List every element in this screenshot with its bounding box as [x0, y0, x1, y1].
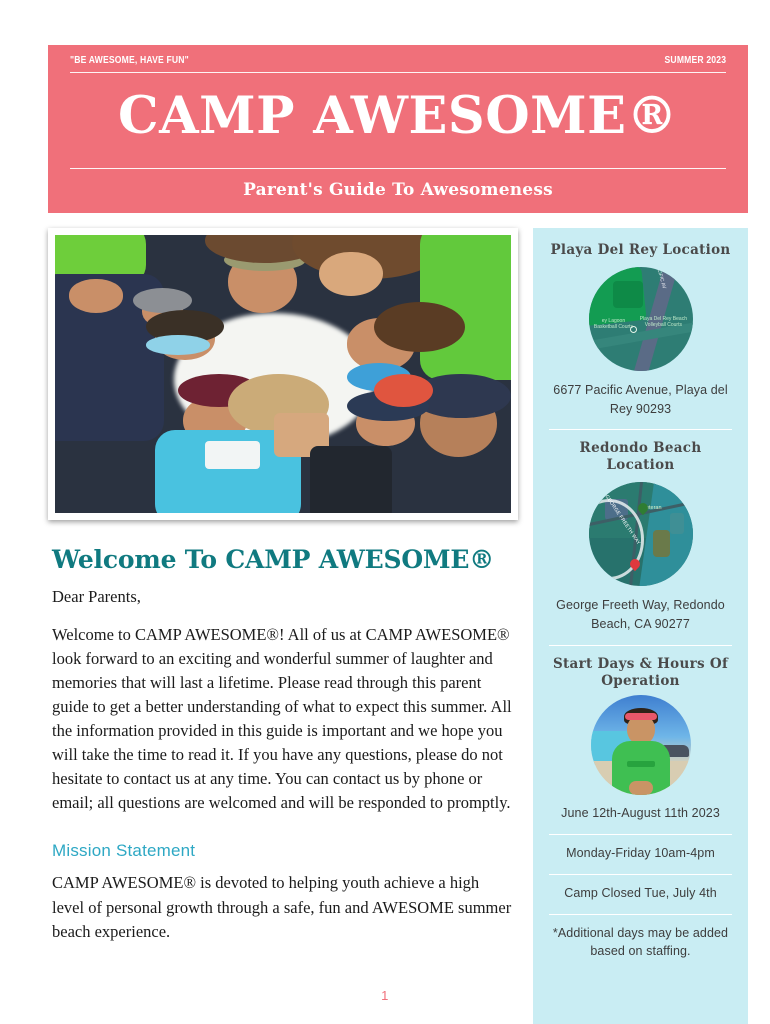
- playa-del-rey-map[interactable]: PACIFIC AV ey Lagoon Basketball Courts P…: [589, 267, 693, 371]
- hero-photo-frame: [48, 228, 518, 520]
- photo-blob: [374, 302, 465, 352]
- photo-blob: [205, 441, 260, 469]
- main-content-column: Welcome To CAMP AWESOME® Dear Parents, W…: [48, 228, 518, 944]
- photo-blob: [146, 335, 210, 354]
- publication-subtitle: Parent's Guide To Awesomeness: [68, 169, 728, 203]
- mission-statement-heading: Mission Statement: [52, 841, 518, 861]
- map-poi-label-2: Playa Del Rey Beach Volleyball Courts: [636, 317, 690, 329]
- redondo-beach-map[interactable]: GEORGE FREETH WAY Veteran: [589, 482, 693, 586]
- sidebar-heading-redondo-beach: Redondo Beach Location: [547, 440, 734, 474]
- page-title: Welcome To CAMP AWESOME®: [52, 546, 518, 575]
- sidebar-divider: [549, 429, 732, 430]
- mission-statement-paragraph: CAMP AWESOME® is devoted to helping yout…: [52, 871, 514, 943]
- map-poi-label-1: ey Lagoon Basketball Courts: [593, 319, 635, 331]
- map-ballfield: [613, 281, 642, 308]
- newsletter-page: "BE AWESOME, HAVE FUN" SUMMER 2023 CAMP …: [0, 0, 770, 1024]
- playa-del-rey-address: 6677 Pacific Avenue, Playa del Rey 90293: [549, 381, 732, 419]
- info-sidebar: Playa Del Rey Location PACIFIC AV ey Lag…: [533, 228, 748, 1024]
- masthead-banner: "BE AWESOME, HAVE FUN" SUMMER 2023 CAMP …: [48, 45, 748, 213]
- campers-circle-photo: [55, 235, 511, 513]
- photo-goggles: [625, 713, 657, 720]
- hours-item: Monday-Friday 10am-4pm: [547, 835, 734, 863]
- sidebar-heading-hours: Start Days & Hours Of Operation: [547, 656, 734, 690]
- photo-blob: [69, 279, 124, 312]
- masthead-meta-row: "BE AWESOME, HAVE FUN" SUMMER 2023: [68, 54, 728, 66]
- hours-note: *Additional days may be added based on s…: [547, 915, 734, 962]
- photo-hands: [629, 781, 653, 795]
- sidebar-divider: [549, 645, 732, 646]
- redondo-beach-address: George Freeth Way, Redondo Beach, CA 902…: [549, 596, 732, 634]
- map-block-2: [653, 530, 670, 557]
- sidebar-heading-playa-del-rey: Playa Del Rey Location: [547, 242, 734, 259]
- hours-item: Camp Closed Tue, July 4th: [547, 875, 734, 903]
- tagline: "BE AWESOME, HAVE FUN": [70, 54, 189, 66]
- photo-blob: [319, 252, 383, 296]
- publication-title: CAMP AWESOME®: [68, 73, 728, 162]
- photo-shirt-logo: [627, 761, 655, 767]
- camper-portrait-photo: [591, 695, 691, 795]
- intro-paragraph: Welcome to CAMP AWESOME®! All of us at C…: [52, 623, 514, 816]
- hours-item: June 12th-August 11th 2023: [547, 795, 734, 823]
- salutation: Dear Parents,: [52, 585, 514, 609]
- map-block-3: [670, 513, 685, 534]
- issue-date: SUMMER 2023: [664, 54, 726, 66]
- photo-blob: [310, 446, 392, 513]
